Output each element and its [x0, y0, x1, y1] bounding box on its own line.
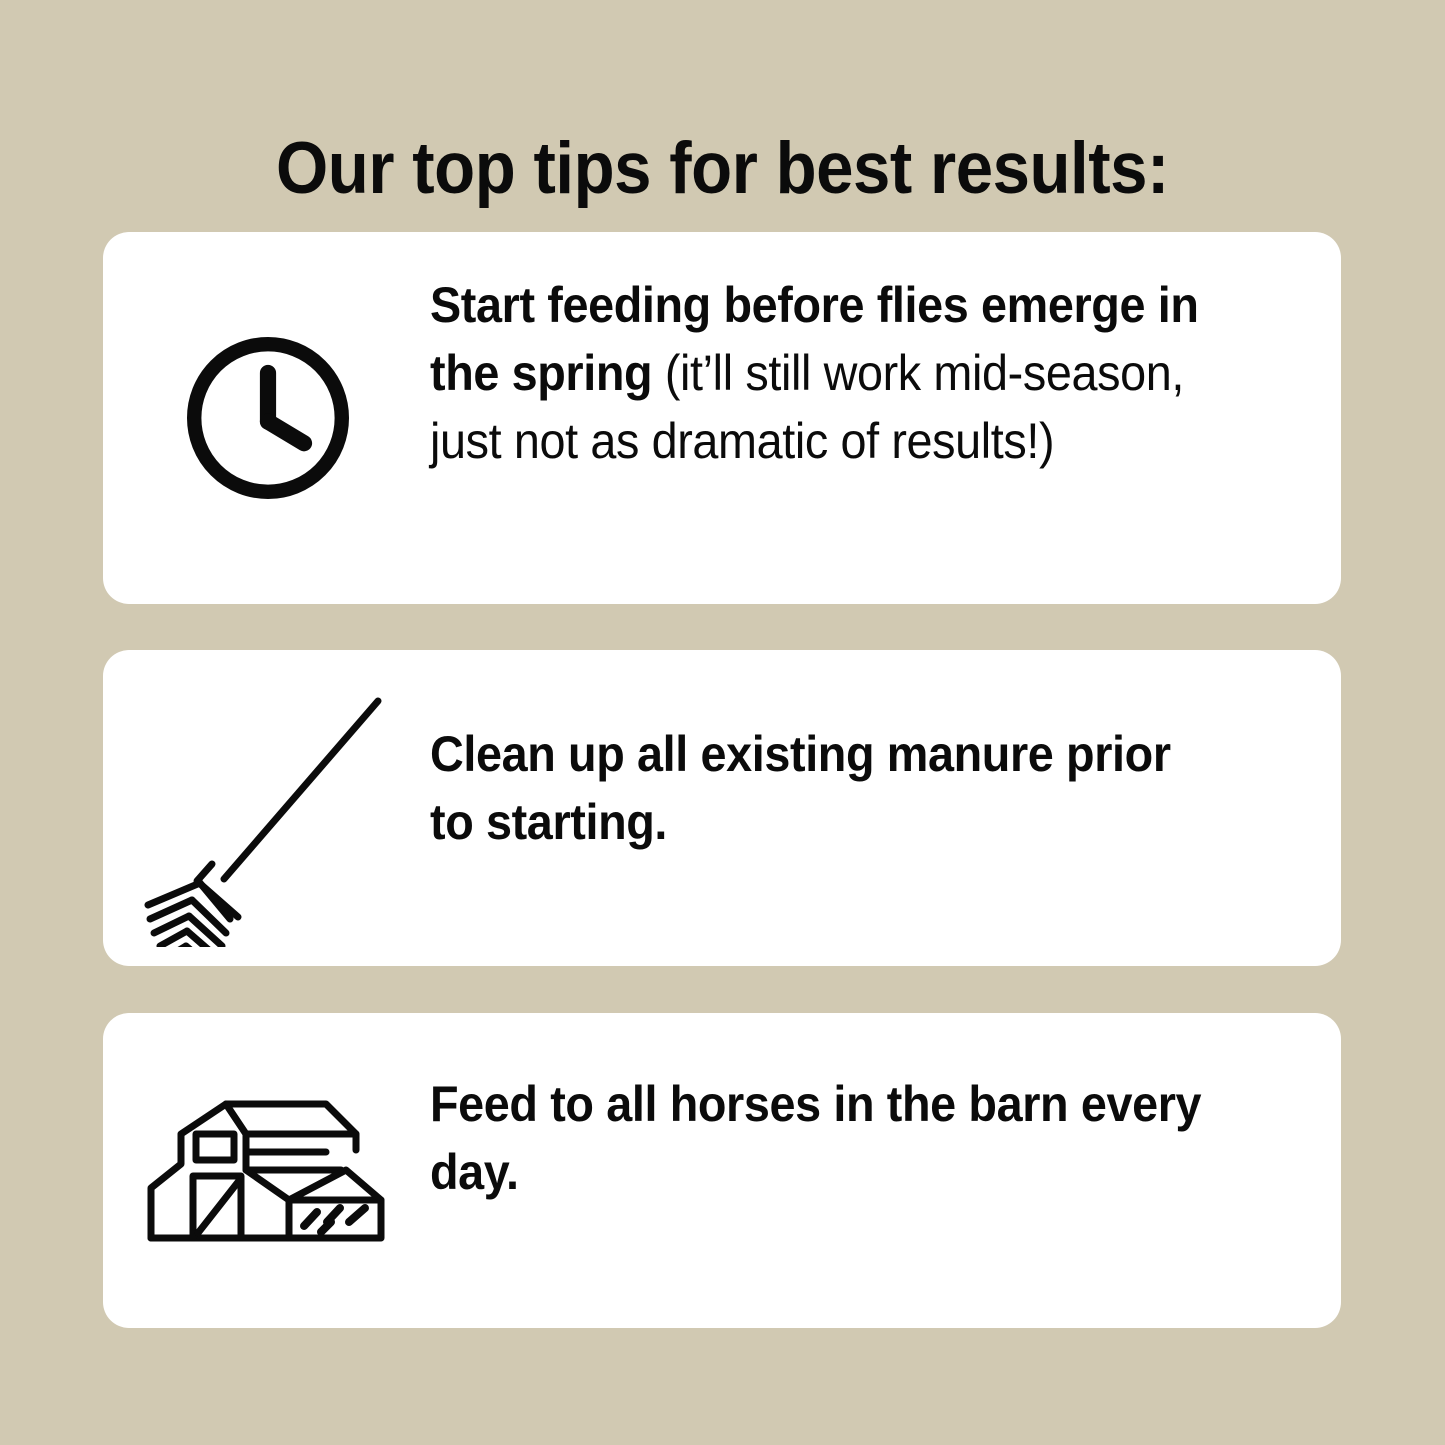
tip-card-1: Start feeding before flies emerge in the…: [103, 232, 1341, 604]
tip-text-1: Start feeding before flies emerge in the…: [430, 271, 1206, 475]
tip-text-2-bold: Clean up all existing manure prior to st…: [430, 726, 1171, 850]
tip-text-3-bold: Feed to all horses in the barn every day…: [430, 1076, 1201, 1200]
poster-root: Our top tips for best results: Start fee…: [0, 0, 1445, 1445]
page-title: Our top tips for best results:: [58, 127, 1387, 211]
barn-icon: [121, 1085, 421, 1255]
pitchfork-icon: [129, 662, 419, 952]
tip-text-3: Feed to all horses in the barn every day…: [430, 1070, 1206, 1206]
tip-card-3: Feed to all horses in the barn every day…: [103, 1013, 1341, 1328]
clock-icon: [163, 318, 373, 518]
tip-card-2: Clean up all existing manure prior to st…: [103, 650, 1341, 966]
tip-text-2: Clean up all existing manure prior to st…: [430, 720, 1206, 856]
